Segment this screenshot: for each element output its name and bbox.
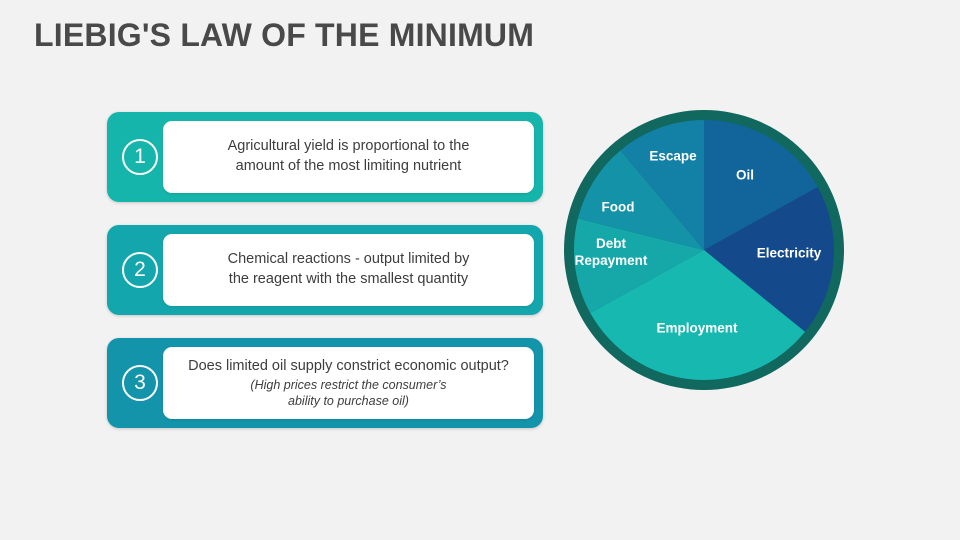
statement-card-3[interactable]: 3 Does limited oil supply constrict econ… <box>107 338 543 428</box>
pie-label-food: Food <box>602 200 635 215</box>
card-text-1: Agricultural yield is proportional to th… <box>228 137 470 176</box>
pie-label-escape: Escape <box>649 149 697 164</box>
card-body-3: Does limited oil supply constrict econom… <box>163 347 534 419</box>
card-text-2: Chemical reactions - output limited by t… <box>228 250 470 289</box>
pie-chart: OilElectricityEmploymentDebtRepaymentFoo… <box>562 108 846 392</box>
card-number-badge-3: 3 <box>122 365 158 401</box>
statement-card-2[interactable]: 2 Chemical reactions - output limited by… <box>107 225 543 315</box>
pie-label-employment: Employment <box>656 321 738 336</box>
statement-card-list: 1 Agricultural yield is proportional to … <box>107 112 543 451</box>
card-number-badge-1: 1 <box>122 139 158 175</box>
card-number-badge-2: 2 <box>122 252 158 288</box>
page-title: LIEBIG'S LAW OF THE MINIMUM <box>34 17 534 54</box>
card-text-3: Does limited oil supply constrict econom… <box>188 357 509 377</box>
pie-chart-svg: OilElectricityEmploymentDebtRepaymentFoo… <box>562 108 846 392</box>
pie-label-oil: Oil <box>736 168 754 183</box>
card-body-2: Chemical reactions - output limited by t… <box>163 234 534 306</box>
card-body-1: Agricultural yield is proportional to th… <box>163 121 534 193</box>
pie-label-electricity: Electricity <box>757 246 822 261</box>
statement-card-1[interactable]: 1 Agricultural yield is proportional to … <box>107 112 543 202</box>
card-subtext-3: (High prices restrict the consumer’s abi… <box>250 377 446 410</box>
